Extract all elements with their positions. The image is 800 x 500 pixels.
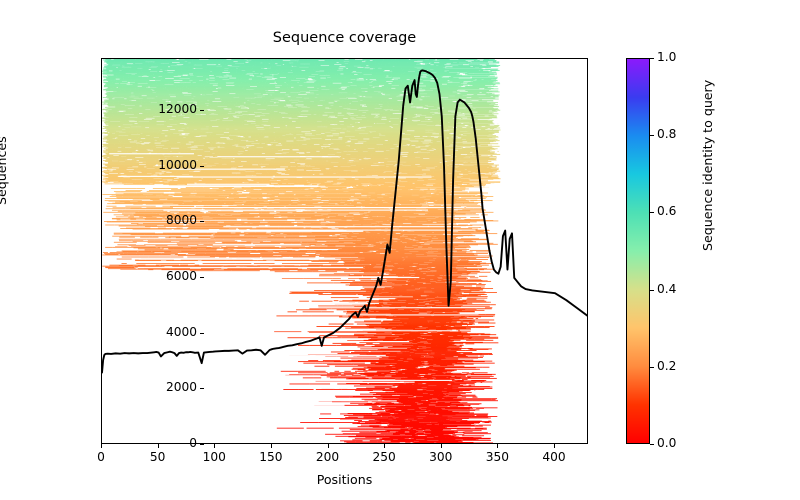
x-tick-mark xyxy=(554,444,555,448)
x-tick-label: 100 xyxy=(203,450,226,464)
y-tick-label: 12000 xyxy=(158,102,197,116)
y-tick-mark xyxy=(200,277,204,278)
colorbar-tick-label: 0.0 xyxy=(657,436,676,450)
colorbar-tick-mark xyxy=(650,290,654,291)
colorbar-tick-mark xyxy=(650,367,654,368)
x-tick-label: 0 xyxy=(97,450,105,464)
y-tick-mark xyxy=(200,166,204,167)
y-tick-label: 8000 xyxy=(166,213,197,227)
colorbar-tick-mark xyxy=(650,444,654,445)
x-axis-label: Positions xyxy=(101,472,588,487)
page-title: Sequence coverage xyxy=(101,30,588,46)
x-tick-mark xyxy=(328,444,329,448)
y-tick-label: 4000 xyxy=(166,325,197,339)
y-tick-mark xyxy=(200,110,204,111)
colorbar-tick-mark xyxy=(650,135,654,136)
x-tick-mark xyxy=(384,444,385,448)
colorbar-tick-label: 0.2 xyxy=(657,359,676,373)
colorbar-tick-mark xyxy=(650,212,654,213)
x-tick-mark xyxy=(497,444,498,448)
x-tick-mark xyxy=(101,444,102,448)
y-tick-label: 10000 xyxy=(158,158,197,172)
y-axis-label: Sequences xyxy=(0,136,9,205)
x-tick-label: 50 xyxy=(150,450,166,464)
y-tick-mark xyxy=(200,221,204,222)
x-tick-label: 350 xyxy=(486,450,509,464)
x-tick-label: 150 xyxy=(259,450,282,464)
colorbar-tick-label: 0.4 xyxy=(657,282,676,296)
colorbar-tick-label: 0.8 xyxy=(657,127,676,141)
colorbar-gradient xyxy=(627,59,649,443)
x-tick-label: 200 xyxy=(316,450,339,464)
y-tick-mark xyxy=(200,333,204,334)
x-tick-label: 400 xyxy=(542,450,565,464)
colorbar-tick-label: 1.0 xyxy=(657,50,676,64)
colorbar-tick-label: 0.6 xyxy=(657,204,676,218)
x-tick-mark xyxy=(271,444,272,448)
y-tick-label: 0 xyxy=(189,436,197,450)
colorbar-tick-mark xyxy=(650,58,654,59)
x-tick-label: 250 xyxy=(372,450,395,464)
x-tick-label: 300 xyxy=(429,450,452,464)
x-tick-mark xyxy=(441,444,442,448)
y-tick-mark xyxy=(200,388,204,389)
x-tick-mark xyxy=(158,444,159,448)
y-tick-mark xyxy=(200,444,204,445)
colorbar-label: Sequence identity to query xyxy=(700,80,715,251)
y-tick-label: 6000 xyxy=(166,269,197,283)
y-tick-label: 2000 xyxy=(166,380,197,394)
colorbar xyxy=(626,58,650,444)
x-tick-mark xyxy=(214,444,215,448)
matplotlib-figure: Sequence coverage 0200040006000800010000… xyxy=(0,0,800,500)
